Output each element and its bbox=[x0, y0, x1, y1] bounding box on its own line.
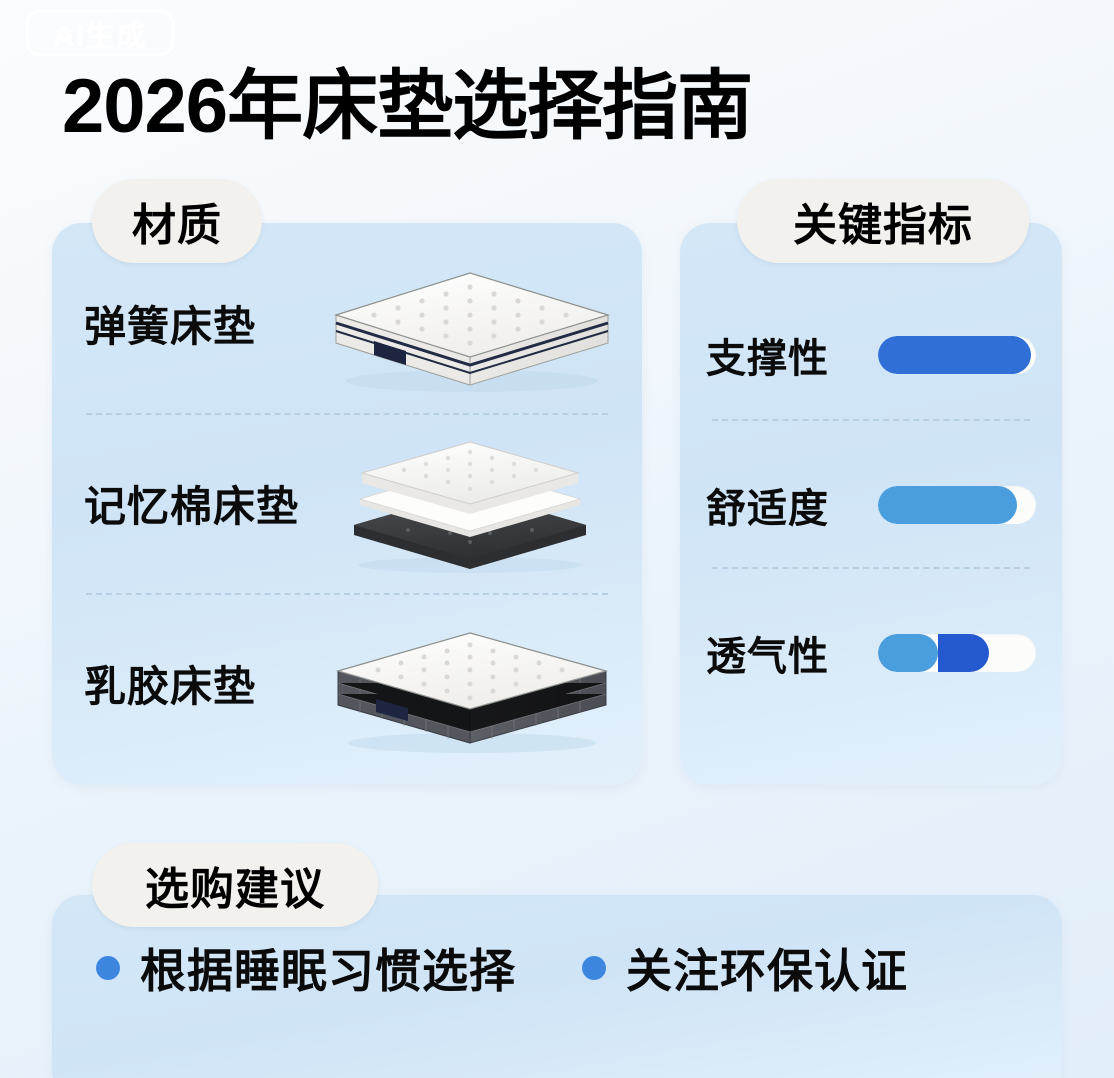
section-label-materials: 材质 bbox=[92, 179, 262, 263]
memory-foam-layers-illustration bbox=[320, 429, 642, 579]
metric-divider bbox=[712, 419, 1030, 421]
metric-progress-track[interactable] bbox=[878, 634, 1036, 672]
material-row[interactable]: 记忆棉床垫 bbox=[52, 417, 642, 590]
spring-mattress-illustration bbox=[320, 249, 642, 399]
metric-progress-track[interactable] bbox=[878, 336, 1036, 374]
material-row[interactable]: 乳胶床垫 bbox=[52, 597, 642, 770]
metric-label: 透气性 bbox=[706, 624, 878, 682]
section-label-metrics-text: 关键指标 bbox=[793, 189, 973, 253]
material-name-label: 弹簧床垫 bbox=[52, 293, 320, 354]
material-name-label: 记忆棉床垫 bbox=[52, 473, 320, 534]
metric-row-comfort[interactable]: 舒适度 bbox=[706, 475, 1042, 535]
bullet-dot-icon bbox=[96, 956, 120, 980]
metric-progress-fill-segment-2 bbox=[938, 634, 989, 672]
metric-row-breathability[interactable]: 透气性 bbox=[706, 623, 1042, 683]
material-divider bbox=[86, 593, 608, 595]
bullet-dot-icon bbox=[582, 956, 606, 980]
metric-divider bbox=[712, 567, 1030, 569]
metric-row-support[interactable]: 支撑性 bbox=[706, 325, 1042, 385]
page-title: 2026年床垫选择指南 bbox=[62, 44, 752, 154]
latex-mattress-illustration bbox=[320, 609, 642, 759]
metric-progress-track[interactable] bbox=[878, 486, 1036, 524]
advice-item-text: 根据睡眠习惯选择 bbox=[140, 935, 516, 1001]
material-divider bbox=[86, 413, 608, 415]
advice-list: 根据睡眠习惯选择 关注环保认证 bbox=[96, 935, 908, 1001]
section-label-advice: 选购建议 bbox=[92, 843, 378, 927]
section-label-materials-text: 材质 bbox=[132, 189, 222, 253]
materials-card: 弹簧床垫 bbox=[52, 223, 642, 785]
metric-progress-fill bbox=[878, 336, 1031, 374]
section-label-metrics: 关键指标 bbox=[737, 179, 1029, 263]
metric-label: 支撑性 bbox=[706, 326, 878, 384]
metrics-card: 支撑性 舒适度 透气性 bbox=[680, 223, 1062, 785]
material-name-label: 乳胶床垫 bbox=[52, 653, 320, 714]
advice-list-item[interactable]: 根据睡眠习惯选择 bbox=[96, 935, 516, 1001]
advice-item-text: 关注环保认证 bbox=[626, 935, 908, 1001]
metric-progress-fill-segment-1 bbox=[878, 634, 938, 672]
section-label-advice-text: 选购建议 bbox=[145, 853, 325, 917]
metric-progress-fill bbox=[878, 486, 1017, 524]
advice-list-item[interactable]: 关注环保认证 bbox=[582, 935, 908, 1001]
metric-label: 舒适度 bbox=[706, 476, 878, 534]
